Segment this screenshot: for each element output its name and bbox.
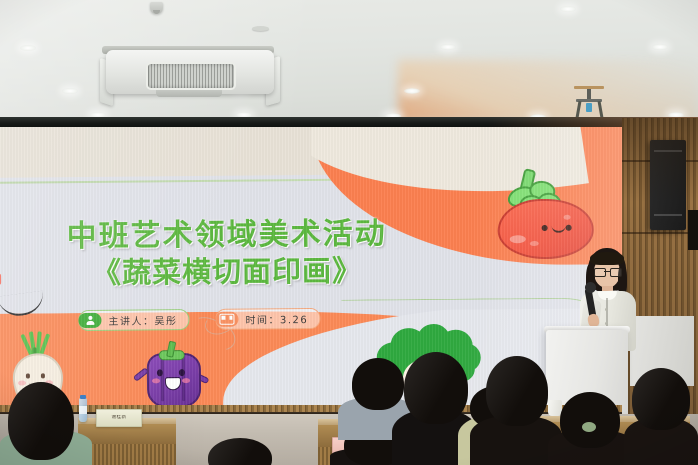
pepper-eye-left	[157, 369, 163, 376]
name-placard: 谢桂新	[96, 409, 142, 427]
downlight	[404, 88, 420, 94]
turnip-eye-left	[26, 373, 30, 378]
slide-info-pills: 主讲人：吴彤 时间：3.26	[78, 308, 320, 331]
shirt-button	[605, 322, 608, 325]
audience-head	[352, 358, 404, 410]
downlight	[560, 6, 576, 12]
hair-accessory	[582, 422, 596, 432]
tomato-eye-right	[566, 225, 572, 231]
pepper-lobe-line	[161, 355, 164, 401]
bottle-label	[79, 406, 87, 414]
bell-pepper-character	[135, 339, 212, 410]
placard-name: 谢桂新	[97, 415, 141, 421]
desk-front-slats	[78, 444, 176, 465]
presenter-glasses	[594, 268, 620, 275]
presenter-fringe	[590, 252, 624, 265]
turnip-eye-right	[41, 373, 45, 378]
downlight	[652, 44, 668, 50]
person-icon	[78, 313, 101, 328]
slide-title-line2: 《蔬菜横切面印画》	[0, 251, 462, 293]
pepper-cheek-right	[182, 378, 190, 383]
downlight	[62, 88, 78, 94]
downlight	[440, 44, 456, 50]
mount-leg	[576, 101, 582, 118]
side-display	[688, 210, 698, 250]
downlight	[20, 45, 36, 51]
tomato-eye-left	[542, 225, 548, 231]
tomato-spot	[564, 215, 571, 220]
ac-lower-vent	[156, 90, 222, 97]
ac-grille	[146, 62, 236, 90]
lecture-hall-photo: 中班艺术领域美术活动 《蔬菜横切面印画》 主讲人：吴彤 时间：3.26	[0, 0, 698, 465]
turnip-cheek-left	[18, 381, 26, 386]
calendar-icon	[215, 312, 238, 327]
sprinkler-head	[150, 2, 163, 14]
pepper-cheek-left	[152, 378, 160, 383]
slide-title-block: 中班艺术领域美术活动 《蔬菜横切面印画》	[0, 217, 462, 293]
tomato-spot	[530, 241, 539, 246]
date-label: 时间：3.26	[245, 311, 308, 327]
projector-mount	[574, 86, 604, 118]
slide-title-line1: 中班艺术领域美术活动	[0, 217, 462, 255]
presenter-label: 主讲人：吴彤	[108, 312, 177, 328]
audience-desk-body	[78, 424, 176, 444]
bottle-cap	[80, 395, 86, 399]
pepper-eye-right	[179, 369, 185, 376]
presenter-pill: 主讲人：吴彤	[78, 309, 189, 331]
shirt-button	[605, 308, 608, 311]
smoke-detector	[252, 26, 269, 31]
ceiling-ac-unit	[100, 46, 280, 100]
mount-core	[586, 103, 592, 112]
mount-leg	[598, 101, 604, 118]
audience-head	[560, 392, 620, 448]
date-pill: 时间：3.26	[215, 308, 320, 330]
